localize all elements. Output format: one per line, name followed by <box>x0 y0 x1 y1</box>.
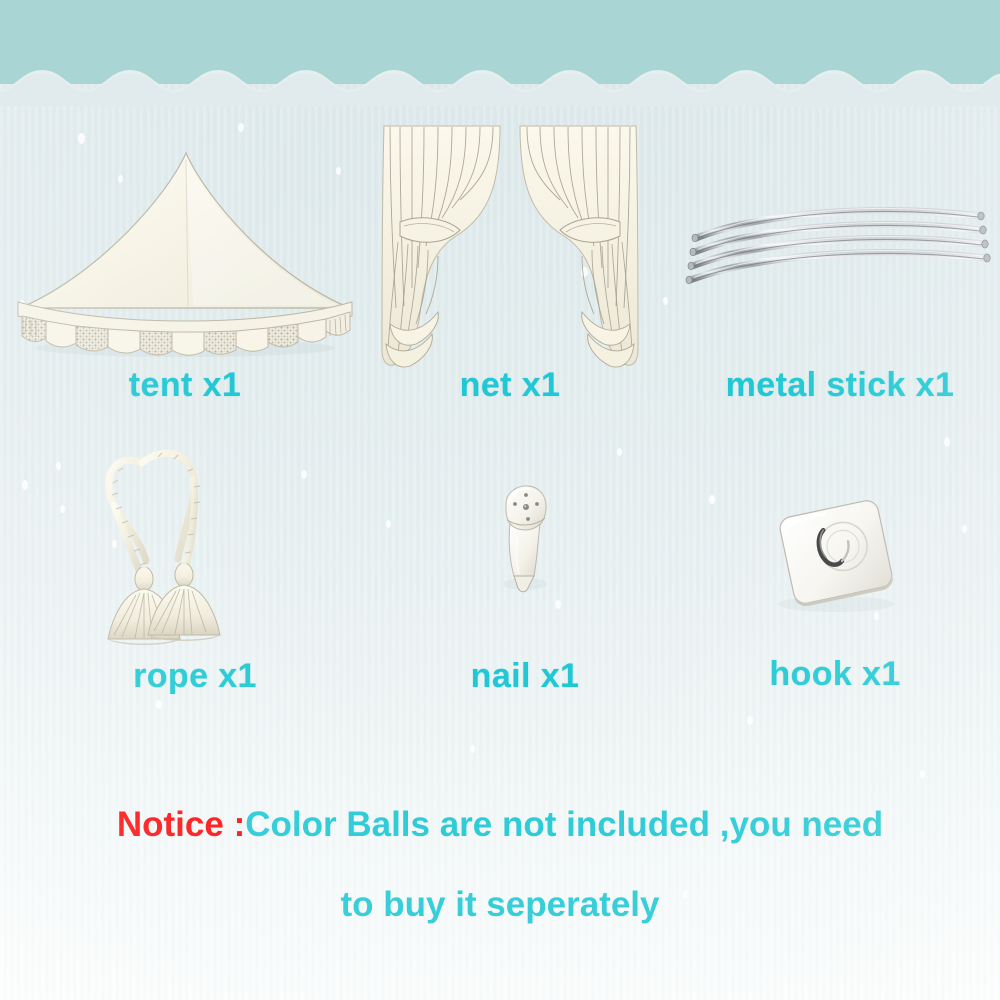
snow-fleck <box>60 505 65 513</box>
product-label-nail: nail x1 <box>400 657 650 696</box>
snow-fleck <box>920 770 925 778</box>
snow-fleck <box>22 480 28 490</box>
product-label-rope: rope x1 <box>80 657 310 696</box>
product-label-net: net x1 <box>360 366 660 405</box>
notice-prefix: Notice : <box>117 805 245 844</box>
product-item-net: net x1 <box>360 118 660 410</box>
product-item-tent: tent x1 <box>10 140 360 410</box>
tent-canopy-icon <box>10 140 360 370</box>
snow-fleck <box>617 448 622 456</box>
product-label-hook: hook x1 <box>710 655 960 694</box>
snow-fleck <box>386 520 391 528</box>
tassel-rope-icon <box>80 435 310 655</box>
product-item-hook: hook x1 <box>710 490 960 695</box>
snow-fleck <box>944 437 950 447</box>
snow-fleck <box>470 745 475 753</box>
product-item-metal-stick: metal stick x1 <box>680 190 1000 410</box>
product-label-tent: tent x1 <box>10 366 360 405</box>
product-label-metal-stick: metal stick x1 <box>680 366 1000 405</box>
snow-fleck <box>663 297 668 305</box>
product-item-rope: rope x1 <box>80 435 310 695</box>
product-item-nail: nail x1 <box>400 480 650 695</box>
curtain-net-icon <box>360 118 660 370</box>
snow-fleck <box>156 700 162 709</box>
header-wave-edge <box>0 60 1000 106</box>
notice-text-line1: Color Balls are not included ,you need <box>245 805 883 844</box>
snow-fleck <box>747 716 753 725</box>
snow-fleck <box>962 525 967 533</box>
adhesive-hook-icon <box>710 490 960 660</box>
wall-nail-icon <box>400 480 650 660</box>
notice-line-2: to buy it seperately <box>0 885 1000 925</box>
snow-fleck <box>238 123 244 132</box>
metal-rods-icon <box>680 190 1000 310</box>
product-contents-infographic: The product you will receive <box>0 0 1000 1000</box>
snow-fleck <box>56 462 61 470</box>
notice-line-1: Notice :Color Balls are not included ,yo… <box>0 805 1000 845</box>
